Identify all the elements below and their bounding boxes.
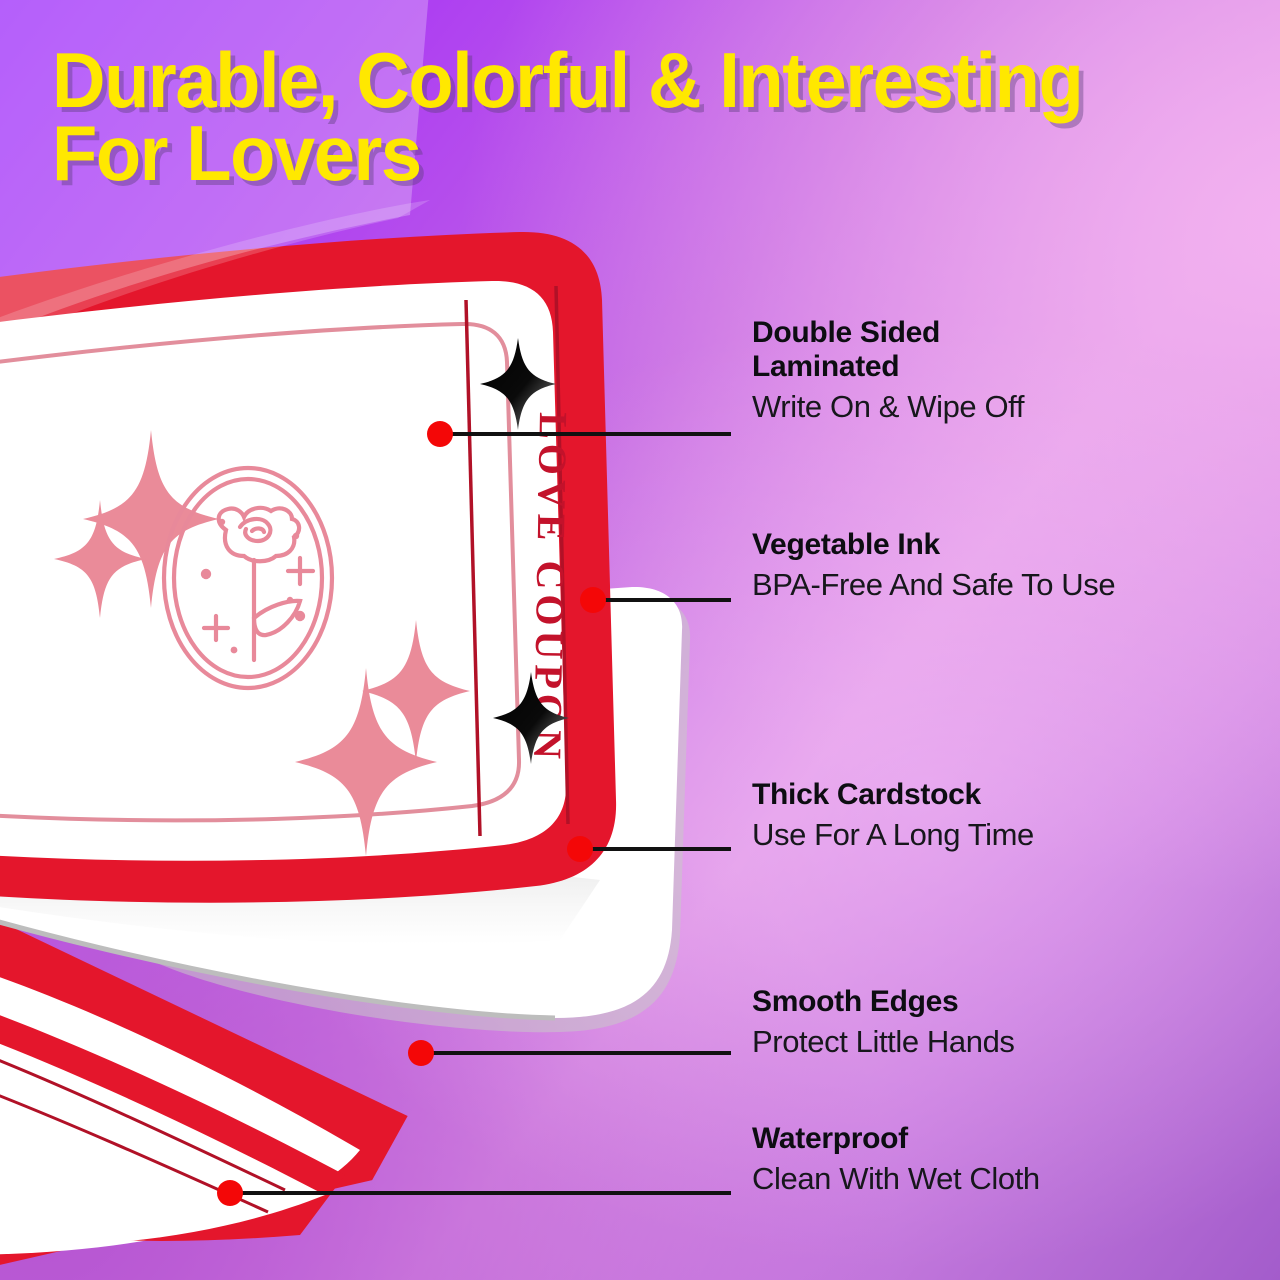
feature-smooth-edges: Smooth Edges Protect Little Hands	[752, 985, 1015, 1060]
leader-dot-waterproof	[217, 1180, 243, 1206]
leader-dot-thick-cardstock	[567, 836, 593, 862]
feature-vegetable-ink: Vegetable Ink BPA-Free And Safe To Use	[752, 528, 1115, 603]
leader-line-thick-cardstock	[580, 847, 731, 851]
feature-subtext: Use For A Long Time	[752, 816, 1034, 853]
leader-line-double-sided-laminated	[440, 432, 731, 436]
infographic-canvas: LOVE COUPON	[0, 0, 1280, 1280]
leader-dot-double-sided-laminated	[427, 421, 453, 447]
feature-waterproof: Waterproof Clean With Wet Cloth	[752, 1122, 1040, 1197]
feature-subtext: Clean With Wet Cloth	[752, 1160, 1040, 1197]
feature-thick-cardstock: Thick Cardstock Use For A Long Time	[752, 778, 1034, 853]
leader-line-vegetable-ink	[593, 598, 731, 602]
feature-heading: Waterproof	[752, 1122, 1040, 1156]
feature-subtext: Write On & Wipe Off	[752, 388, 1024, 425]
feature-heading: Vegetable Ink	[752, 528, 1115, 562]
feature-heading: Double Sided Laminated	[752, 316, 1024, 384]
feature-subtext: Protect Little Hands	[752, 1023, 1015, 1060]
leader-dot-vegetable-ink	[580, 587, 606, 613]
feature-heading: Smooth Edges	[752, 985, 1015, 1019]
leader-line-waterproof	[230, 1191, 731, 1195]
card-front-love-coupon: LOVE COUPON	[0, 232, 616, 945]
leader-line-smooth-edges	[421, 1051, 731, 1055]
page-title: Durable, Colorful & Interesting For Love…	[52, 44, 1202, 191]
leader-dot-smooth-edges	[408, 1040, 434, 1066]
feature-double-sided-laminated: Double Sided Laminated Write On & Wipe O…	[752, 316, 1024, 426]
feature-heading: Thick Cardstock	[752, 778, 1034, 812]
feature-subtext: BPA-Free And Safe To Use	[752, 566, 1115, 603]
